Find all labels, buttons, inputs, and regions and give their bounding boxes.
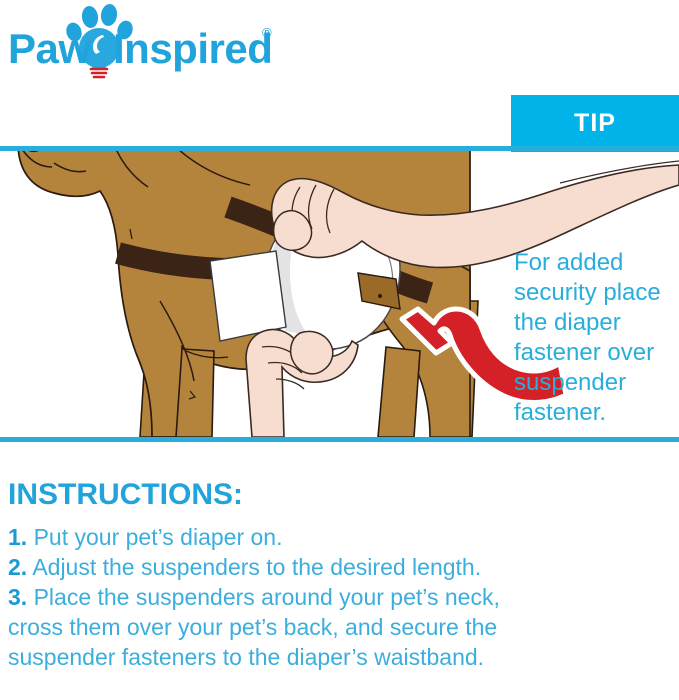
tip-banner: TIP bbox=[511, 95, 679, 152]
diaper-fastener-strip bbox=[210, 251, 286, 341]
instruction-text-1: Put your pet’s diaper on. bbox=[34, 524, 283, 550]
instruction-item-1: 1. Put your pet’s diaper on. bbox=[8, 522, 608, 552]
instructions-heading: INSTRUCTIONS: bbox=[8, 478, 608, 512]
instruction-item-2: 2. Adjust the suspenders to the desired … bbox=[8, 552, 608, 582]
instruction-text-2: Adjust the suspenders to the desired len… bbox=[32, 554, 481, 580]
instruction-text-3-line-3-row: suspender fasteners to the diaper’s wais… bbox=[8, 642, 608, 672]
registered-trademark-symbol: ® bbox=[262, 26, 272, 39]
divider-bottom bbox=[0, 437, 679, 442]
instruction-text-3-line-3: suspender fasteners to the diaper’s wais… bbox=[8, 644, 484, 670]
brand-logo: Paw Inspired ® bbox=[0, 0, 300, 88]
instruction-text-3-line-2-row: cross them over your pet’s back, and sec… bbox=[8, 612, 608, 642]
logo-wordmark-paw: Paw bbox=[8, 28, 91, 70]
logo-wordmark-inspired: Inspired bbox=[113, 28, 272, 70]
instruction-text-3-line-1: Place the suspenders around your pet’s n… bbox=[34, 584, 500, 610]
instruction-number-1: 1. bbox=[8, 524, 27, 550]
instructions-section: INSTRUCTIONS: 1. Put your pet’s diaper o… bbox=[8, 478, 608, 672]
instruction-text-3-line-2: cross them over your pet’s back, and sec… bbox=[8, 614, 497, 640]
tip-text: For added security place the diaper fast… bbox=[514, 248, 679, 428]
instruction-item-3: 3. Place the suspenders around your pet’… bbox=[8, 582, 608, 612]
tip-banner-label: TIP bbox=[574, 109, 616, 138]
instruction-number-3: 3. bbox=[8, 584, 27, 610]
instruction-number-2: 2. bbox=[8, 554, 27, 580]
